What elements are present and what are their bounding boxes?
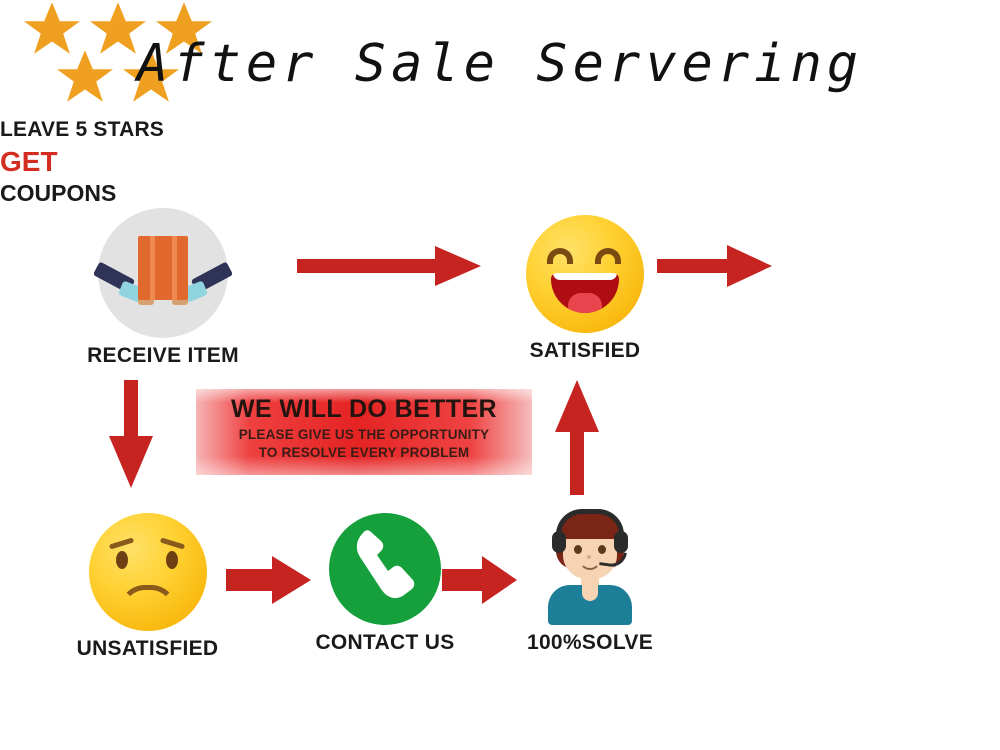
arrow-contact-to-solve — [440, 552, 520, 608]
after-sale-service-infographic: After Sale Servering RECEIVE ITEM SATISF… — [0, 0, 1000, 750]
we-will-do-better-banner: WE WILL DO BETTER PLEASE GIVE US THE OPP… — [196, 389, 532, 475]
node-solve: 100%SOLVE — [500, 505, 680, 655]
microphone-icon — [599, 549, 627, 568]
eye-left-icon — [547, 248, 573, 264]
contact-us-label: CONTACT US — [300, 631, 470, 655]
eyebrow-left-icon — [108, 537, 133, 549]
arrow-receive-to-satisfied — [295, 240, 485, 300]
happy-face-icon — [526, 215, 644, 333]
stars-reward-block: LEAVE 5 STARS GET COUPONS — [0, 0, 235, 207]
eye-left-icon — [574, 545, 582, 554]
frown-mouth-icon — [119, 585, 177, 611]
node-satisfied: SATISFIED — [500, 215, 670, 363]
earcup-left-icon — [552, 531, 566, 553]
unsatisfied-label: UNSATISFIED — [60, 637, 235, 661]
package-stripe-icon — [172, 236, 177, 300]
eye-left-icon — [116, 551, 128, 569]
arrow-receive-to-unsatisfied — [105, 378, 165, 490]
node-receive-item: RECEIVE ITEM — [48, 208, 278, 368]
eye-right-icon — [595, 248, 621, 264]
headset-agent-icon — [530, 505, 650, 625]
sad-face-icon — [89, 513, 207, 631]
arrow-solve-to-satisfied — [551, 378, 611, 498]
package-in-hands-icon — [98, 208, 228, 338]
headband-icon — [556, 509, 624, 535]
banner-subtitle-line2: TO RESOLVE EVERY PROBLEM — [196, 445, 532, 460]
leave-stars-label: LEAVE 5 STARS — [0, 118, 235, 142]
receive-item-label: RECEIVE ITEM — [48, 344, 278, 368]
open-mouth-icon — [551, 273, 619, 313]
page-title: After Sale Servering — [0, 34, 1000, 94]
get-label: GET — [0, 146, 235, 178]
tongue-icon — [568, 293, 602, 313]
phone-handset-icon — [329, 513, 441, 625]
arrow-satisfied-to-stars — [655, 240, 775, 300]
solve-label: 100%SOLVE — [500, 631, 680, 655]
coupons-label: COUPONS — [0, 180, 235, 207]
phone-handset-glyph — [329, 513, 441, 625]
node-unsatisfied: UNSATISFIED — [60, 513, 235, 661]
eyebrow-right-icon — [159, 537, 184, 549]
earcup-right-icon — [614, 531, 628, 553]
satisfied-label: SATISFIED — [500, 339, 670, 363]
banner-subtitle-line1: PLEASE GIVE US THE OPPORTUNITY — [196, 427, 532, 442]
arrow-unsatisfied-to-contact — [224, 552, 314, 608]
package-box-icon — [138, 236, 188, 300]
eye-right-icon — [166, 551, 178, 569]
collar-icon — [582, 585, 598, 601]
banner-title: WE WILL DO BETTER — [196, 395, 532, 424]
package-stripe-icon — [150, 236, 155, 300]
